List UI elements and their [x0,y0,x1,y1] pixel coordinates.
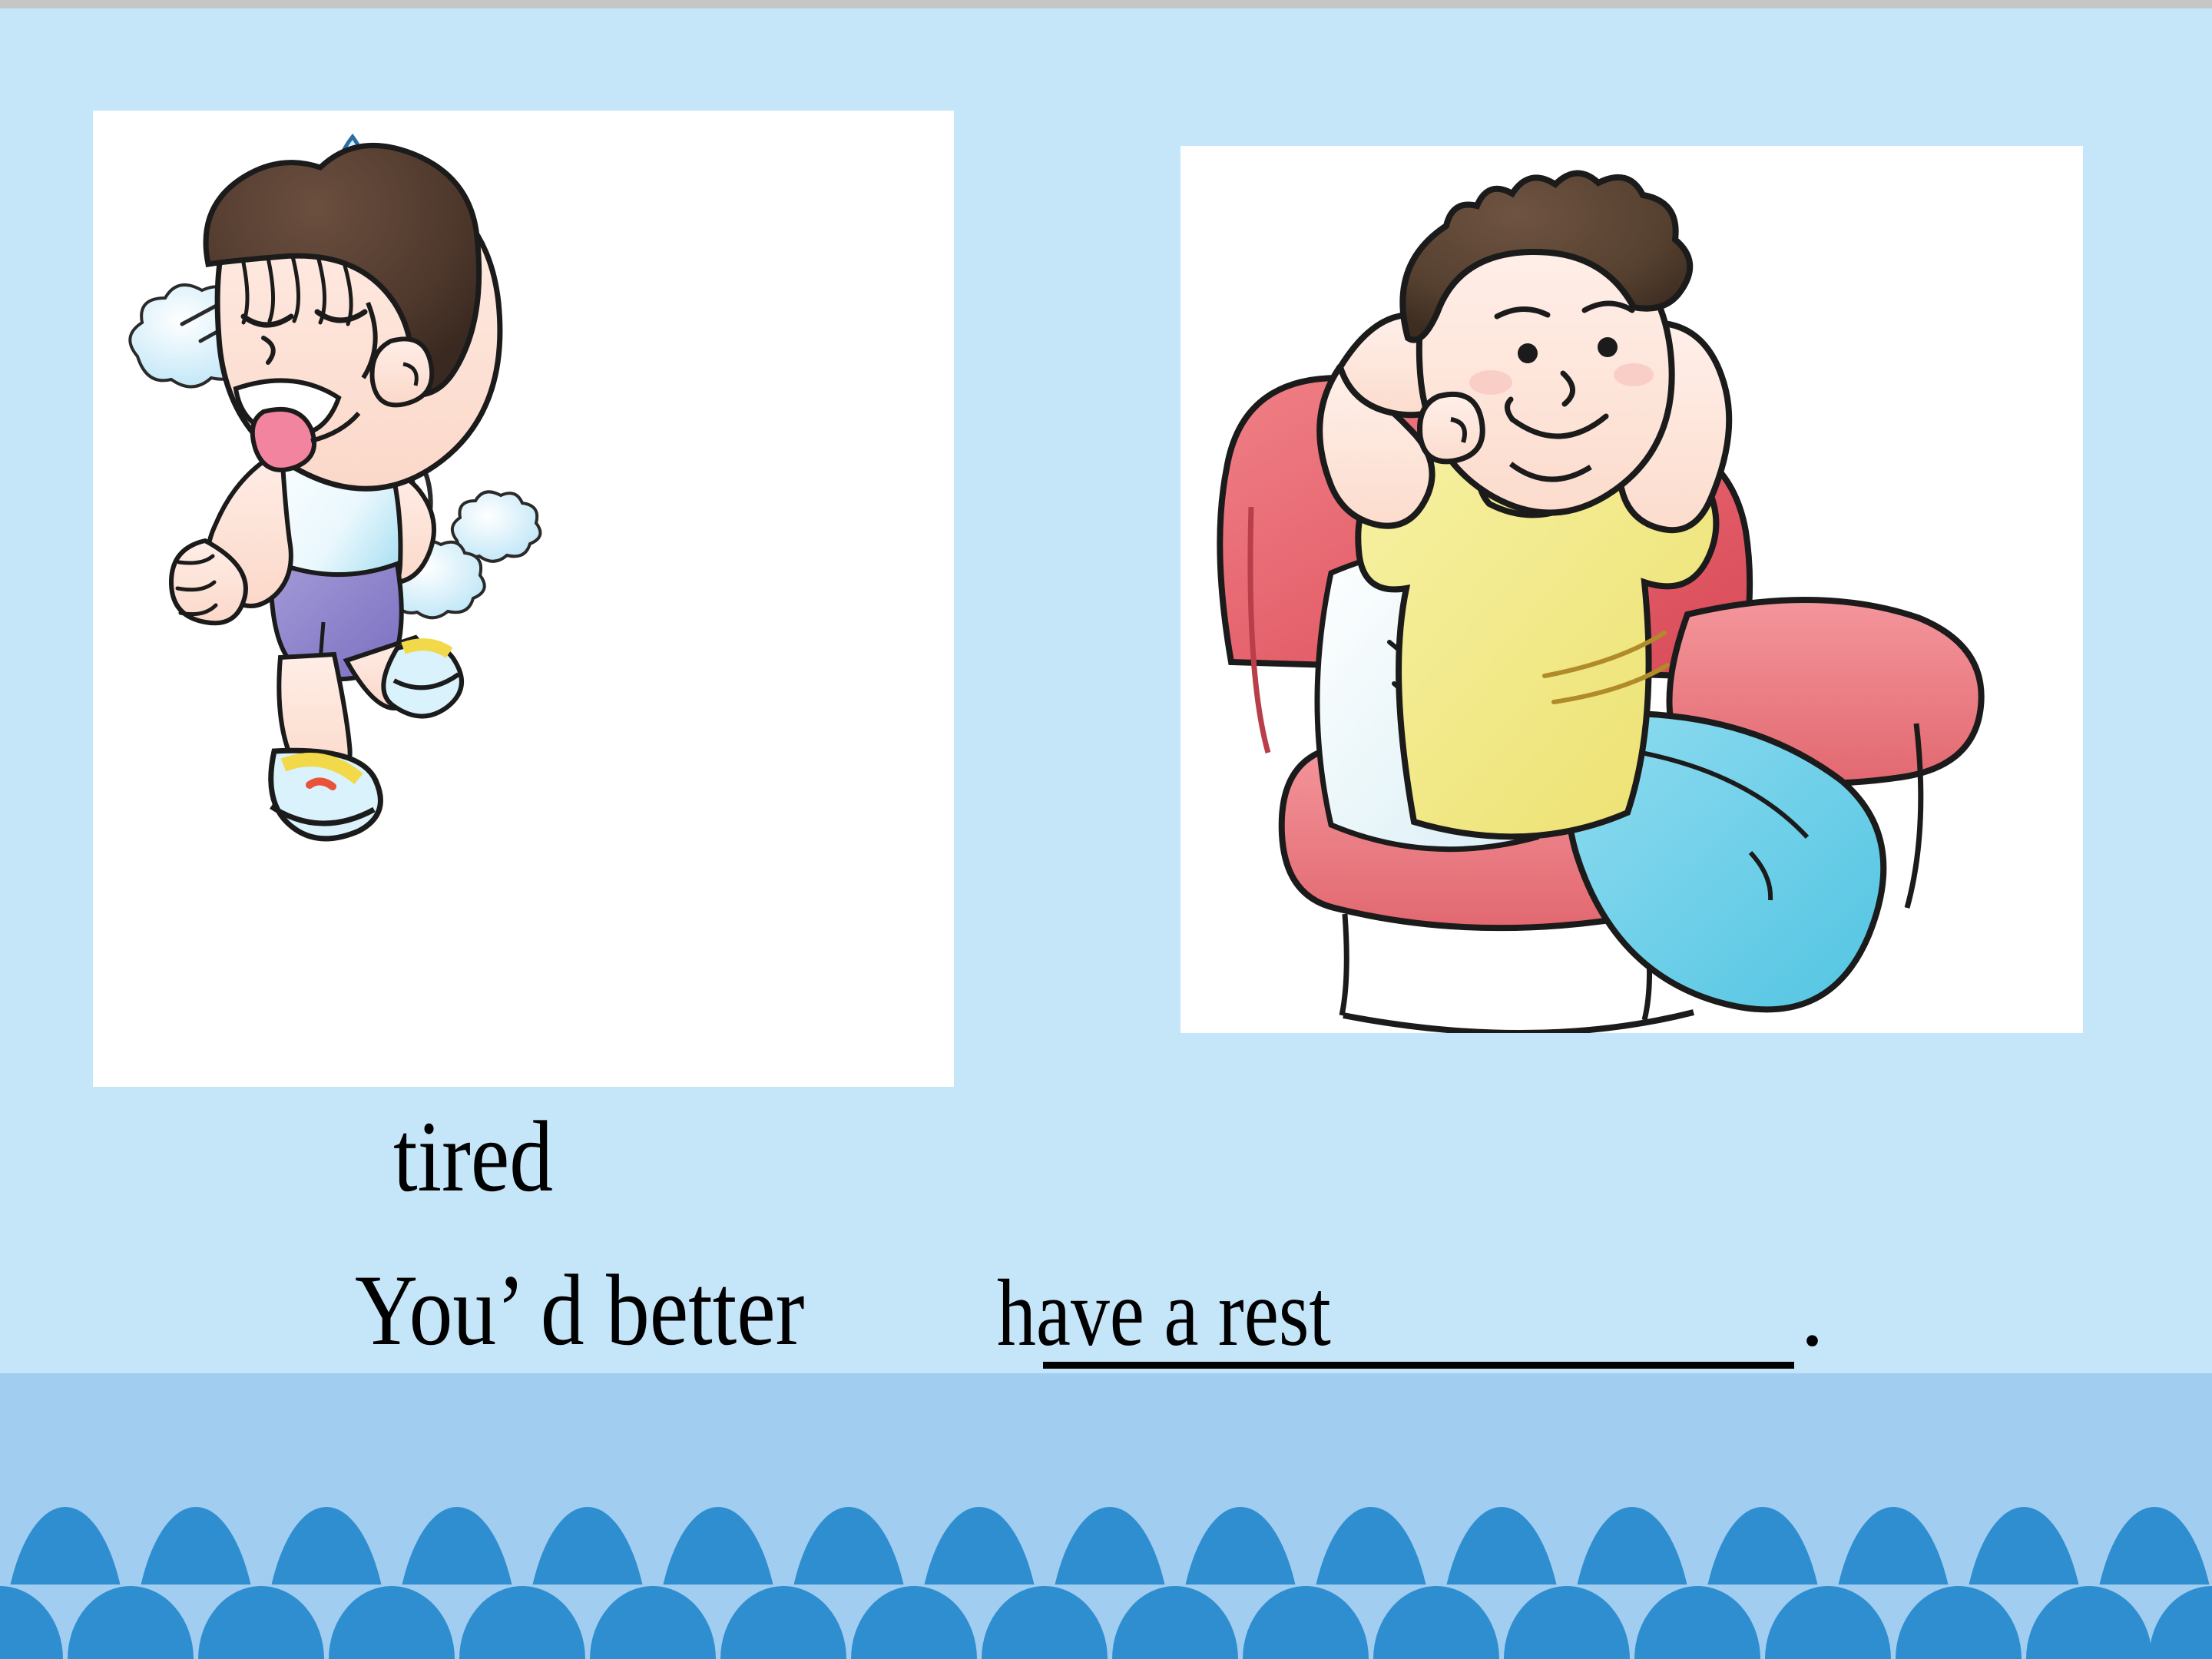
resting-boy-illustration [1181,146,2083,1033]
slide-canvas: tired You’ d better have a rest . [0,0,2212,1659]
shoe-back [383,644,462,717]
eye-right [1598,337,1618,357]
top-rule-divider [0,0,2212,8]
sentence-lead-text: You’ d better [355,1260,804,1361]
scallop-arches-front [0,1584,2212,1659]
sentence-period: . [1800,1266,1824,1361]
shoe-front [271,750,381,839]
tongue [253,409,314,470]
ear [373,339,432,405]
blush-right [1614,363,1654,386]
answer-phrase-text: have a rest [997,1266,1331,1361]
answer-blank-underline [1043,1362,1794,1369]
blush-left [1469,370,1512,395]
image-boy-resting-armchair [1181,146,2083,1033]
eye-left [1518,343,1538,363]
scallop-row-front [0,1584,2212,1659]
image-running-boy-tired [93,111,954,1087]
running-boy-illustration [93,111,954,1087]
vocabulary-word-tired: tired [393,1106,553,1207]
ear [1420,394,1483,461]
